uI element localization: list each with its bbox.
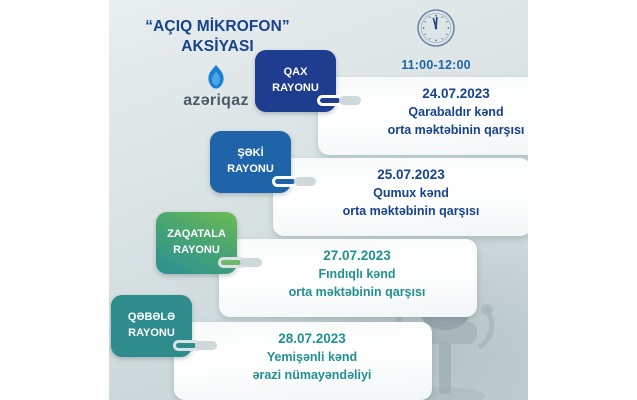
event-time-block: 11:00-12:00 xyxy=(381,8,491,72)
title-line-1: “AÇIQ MİKROFON” xyxy=(115,17,320,37)
flame-icon xyxy=(205,64,227,90)
schedule-card[interactable]: 27.07.2023 Fındıqlı kənd orta məktəbinin… xyxy=(219,239,477,317)
poster-canvas: “AÇIQ MİKROFON” AKSİYASI azəriqaz 11: xyxy=(109,0,528,400)
card-place-line-1: Qumux kənd xyxy=(301,185,521,203)
card-place-line-2: orta məktəbinin qarşısı xyxy=(301,203,521,221)
schedule-card[interactable]: 28.07.2023 Yemişənli kənd ərazi nümayənd… xyxy=(174,322,432,400)
chain-link-icon xyxy=(272,171,322,191)
card-date: 25.07.2023 xyxy=(301,165,521,185)
district-name: ZAQATALA xyxy=(156,227,237,243)
schedule-card[interactable]: 25.07.2023 Qumux kənd orta məktəbinin qa… xyxy=(273,158,528,236)
card-date: 27.07.2023 xyxy=(247,246,467,266)
schedule-card[interactable]: 24.07.2023 Qarabaldır kənd orta məktəbin… xyxy=(318,77,528,155)
card-place-line-1: Fındıqlı kənd xyxy=(247,266,467,284)
card-place-line-1: Yemişənli kənd xyxy=(202,349,422,367)
card-place-line-2: ərazi nümayəndəliyi xyxy=(202,367,422,385)
district-name: QAX xyxy=(255,65,336,81)
card-place-line-2: orta məktəbinin qarşısı xyxy=(346,122,528,140)
district-name: QƏBƏLƏ xyxy=(111,310,192,326)
card-date: 24.07.2023 xyxy=(346,84,528,104)
card-place-line-2: orta məktəbinin qarşısı xyxy=(247,284,467,302)
card-place-line-1: Qarabaldır kənd xyxy=(346,104,528,122)
chain-link-icon xyxy=(317,90,367,110)
card-date: 28.07.2023 xyxy=(202,329,422,349)
district-name: ŞƏKİ xyxy=(210,146,291,162)
time-range-label: 11:00-12:00 xyxy=(381,58,491,72)
chain-link-icon xyxy=(218,252,268,272)
chain-link-icon xyxy=(173,335,223,355)
clock-icon xyxy=(416,8,456,48)
